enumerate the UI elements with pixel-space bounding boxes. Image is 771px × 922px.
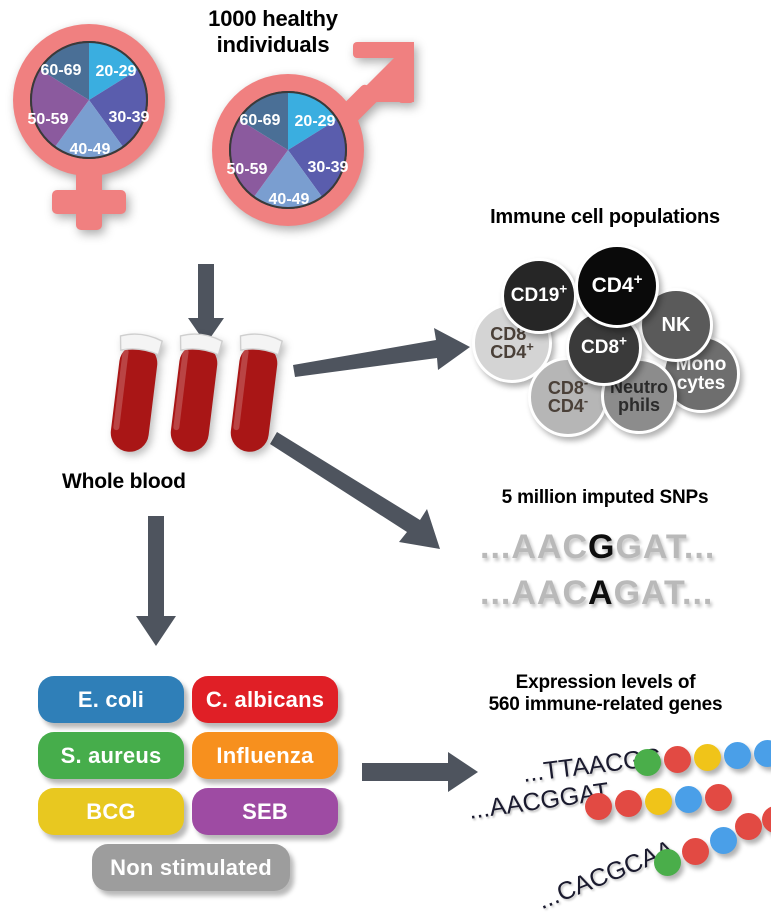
stimulus-pill-non-stimulated[interactable]: Non stimulated: [92, 844, 290, 891]
snp-sequence-row: ...AACGGAT...: [480, 528, 715, 567]
stimulus-label: C. albicans: [206, 687, 324, 713]
blood-tube: [167, 332, 223, 454]
stimulus-label: E. coli: [78, 687, 144, 713]
stimulus-label: SEB: [242, 799, 288, 825]
arrow-blood-to-immune: [293, 328, 470, 377]
arrow-blood-to-stimuli: [136, 516, 176, 646]
stimulus-label: S. aureus: [61, 743, 162, 769]
stimulus-pill-bcg[interactable]: BCG: [38, 788, 184, 835]
snp-flanking-sequence: ...AAC: [480, 528, 588, 566]
stimulus-label: Influenza: [216, 743, 313, 769]
snp-flanking-sequence: GAT...: [615, 528, 715, 566]
snp-sequence-block: ...AACGGAT... ...AACAGAT...: [480, 528, 770, 618]
stimulus-pill-s-aureus[interactable]: S. aureus: [38, 732, 184, 779]
stimulus-pill-c-albicans[interactable]: C. albicans: [192, 676, 338, 723]
arrow-stimuli-to-expression: [362, 752, 478, 792]
whole-blood-tubes: [100, 330, 300, 465]
stimulus-label: BCG: [86, 799, 136, 825]
blood-tube: [107, 332, 163, 454]
snp-sequence-row: ...AACAGAT...: [480, 574, 713, 613]
stimulus-label: Non stimulated: [110, 855, 272, 881]
stimulus-pill-e-coli[interactable]: E. coli: [38, 676, 184, 723]
snp-flanking-sequence: GAT...: [614, 574, 714, 612]
snp-variant-base: G: [588, 528, 615, 566]
snp-variant-base: A: [588, 574, 614, 612]
blood-tube: [227, 332, 283, 454]
snp-flanking-sequence: ...AAC: [480, 574, 588, 612]
stimulus-pill-influenza[interactable]: Influenza: [192, 732, 338, 779]
stimulus-pill-seb[interactable]: SEB: [192, 788, 338, 835]
